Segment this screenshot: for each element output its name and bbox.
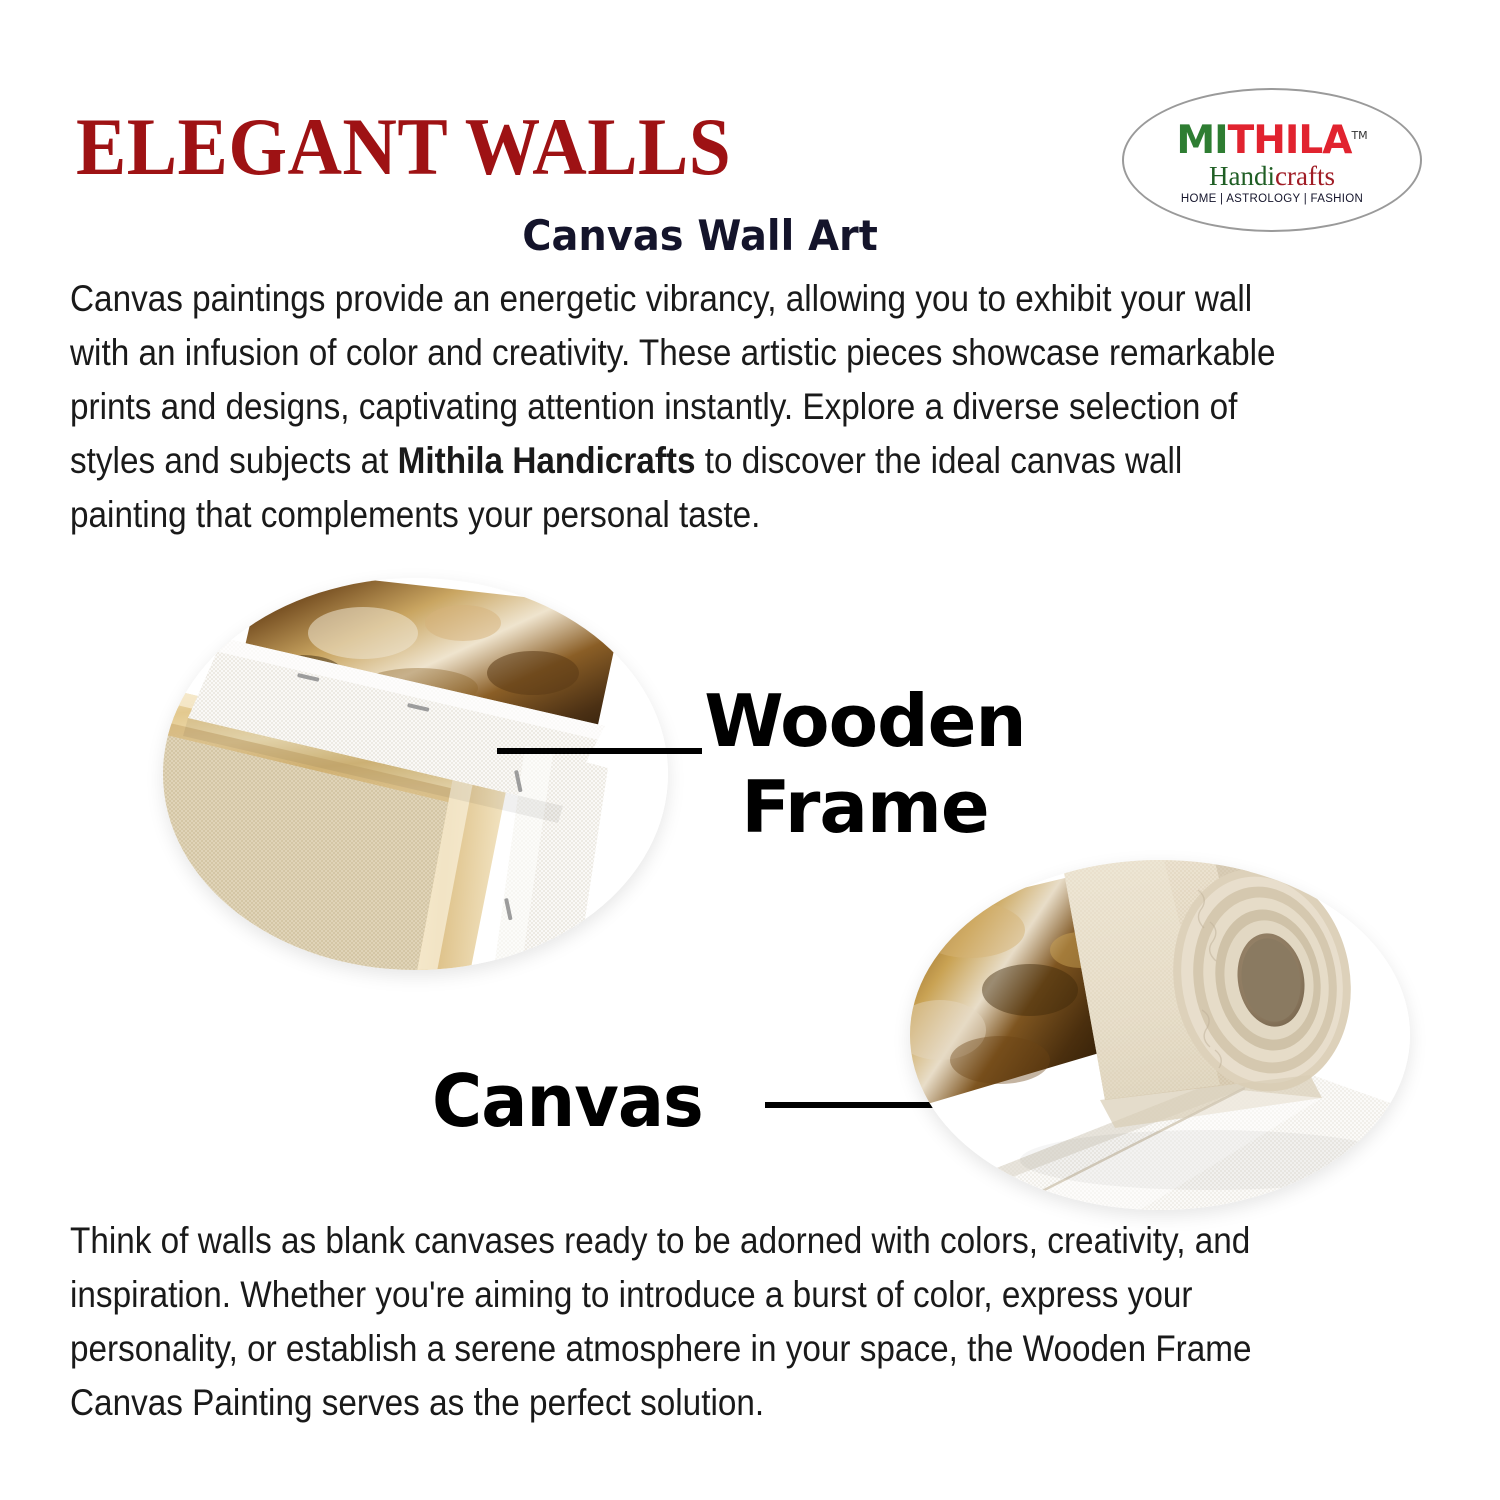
- brand-mention: Mithila Handicrafts: [398, 440, 696, 481]
- logo-subtitle: Handicrafts: [1209, 162, 1335, 191]
- callout-label-canvas: Canvas: [432, 1058, 703, 1144]
- callout-label-wooden-frame: Wooden Frame: [700, 678, 1030, 850]
- page-subtitle: Canvas Wall Art: [35, 211, 1365, 261]
- trademark-icon: TM: [1351, 129, 1367, 142]
- logo-subtitle-part1: Handi: [1209, 161, 1275, 191]
- closing-paragraph: Think of walls as blank canvases ready t…: [70, 1214, 1303, 1430]
- logo-wordmark: MITHILATM: [1176, 116, 1367, 161]
- logo-wordmark-part1: MI: [1176, 118, 1227, 163]
- leader-line-icon: [497, 748, 702, 754]
- logo-subtitle-part2: crafts: [1275, 161, 1335, 191]
- logo-wordmark-part2: THILA: [1228, 118, 1352, 163]
- rolled-canvas-illustration: [910, 860, 1410, 1210]
- page-title: ELEGANT WALLS: [76, 104, 731, 190]
- logo-tagline: HOME | ASTROLOGY | FASHION: [1181, 193, 1363, 205]
- stretched-canvas-back-photo: [163, 578, 668, 970]
- infographic-page: ELEGANT WALLS MITHILATM Handicrafts HOME…: [0, 0, 1500, 1500]
- stretched-canvas-back-illustration: [163, 578, 668, 970]
- rolled-canvas-photo: [910, 860, 1410, 1210]
- intro-paragraph: Canvas paintings provide an energetic vi…: [70, 272, 1303, 542]
